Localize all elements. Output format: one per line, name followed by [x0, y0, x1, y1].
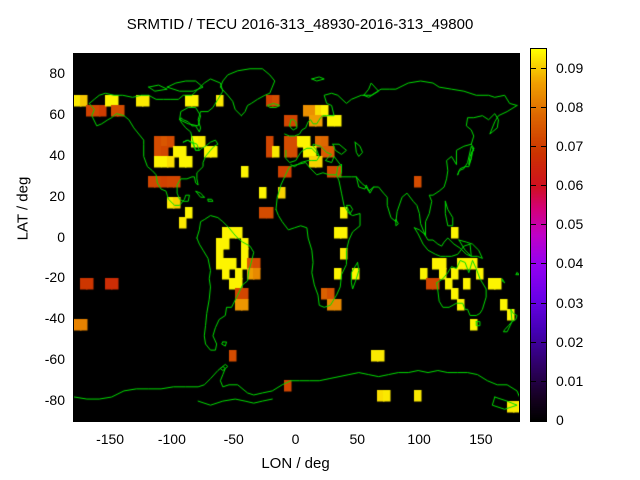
x-axis-label: LON / deg: [73, 455, 518, 472]
colorbar-tick-label: 0: [556, 413, 564, 427]
colorbar-tick-mark: [531, 68, 536, 69]
figure-canvas: SRMTID / TECU 2016-313_48930-2016-313_49…: [0, 0, 640, 480]
colorbar-tick-mark: [541, 68, 546, 69]
colorbar-tick-mark: [541, 185, 546, 186]
colorbar-tick-label: 0.05: [556, 217, 583, 231]
colorbar-tick-mark: [531, 146, 536, 147]
colorbar-tick-label: 0.09: [556, 61, 583, 75]
y-tick-label: 40: [3, 148, 65, 162]
x-tick-label: 0: [261, 432, 331, 446]
x-tick-label: 50: [322, 432, 392, 446]
y-tick-label: -40: [3, 311, 65, 325]
x-tick-label: -50: [199, 432, 269, 446]
page-title: SRMTID / TECU 2016-313_48930-2016-313_49…: [0, 16, 600, 33]
colorbar-tick-mark: [531, 263, 536, 264]
colorbar-tick-label: 0.01: [556, 374, 583, 388]
world-map-heatmap[interactable]: [74, 54, 519, 421]
colorbar-tick-label: 0.06: [556, 178, 583, 192]
colorbar-tick-mark: [541, 381, 546, 382]
colorbar-tick-mark: [531, 342, 536, 343]
colorbar-tick-label: 0.02: [556, 335, 583, 349]
x-tick-label: 150: [446, 432, 516, 446]
colorbar-tick-mark: [531, 303, 536, 304]
y-tick-label: 0: [3, 230, 65, 244]
y-tick-label: 80: [3, 66, 65, 80]
colorbar-tick-mark: [531, 224, 536, 225]
colorbar-tick-mark: [531, 420, 536, 421]
colorbar-tick-mark: [531, 107, 536, 108]
colorbar[interactable]: [530, 48, 547, 422]
colorbar-tick-mark: [541, 420, 546, 421]
map-plot-area[interactable]: [73, 53, 520, 422]
colorbar-tick-label: 0.04: [556, 256, 583, 270]
colorbar-tick-mark: [541, 107, 546, 108]
colorbar-tick-mark: [541, 146, 546, 147]
y-tick-label: -60: [3, 352, 65, 366]
y-tick-label: 20: [3, 189, 65, 203]
colorbar-tick-mark: [531, 381, 536, 382]
colorbar-tick-label: 0.07: [556, 139, 583, 153]
x-tick-label: -100: [137, 432, 207, 446]
colorbar-tick-mark: [541, 224, 546, 225]
x-tick-label: 100: [384, 432, 454, 446]
colorbar-gradient: [531, 49, 546, 421]
colorbar-tick-mark: [541, 263, 546, 264]
y-axis-label: LAT / deg: [15, 139, 32, 279]
y-tick-label: -80: [3, 393, 65, 407]
colorbar-tick-mark: [541, 342, 546, 343]
colorbar-tick-mark: [531, 185, 536, 186]
colorbar-tick-label: 0.03: [556, 296, 583, 310]
y-tick-label: 60: [3, 107, 65, 121]
y-tick-label: -20: [3, 270, 65, 284]
colorbar-tick-label: 0.08: [556, 100, 583, 114]
colorbar-tick-mark: [541, 303, 546, 304]
x-tick-label: -150: [75, 432, 145, 446]
